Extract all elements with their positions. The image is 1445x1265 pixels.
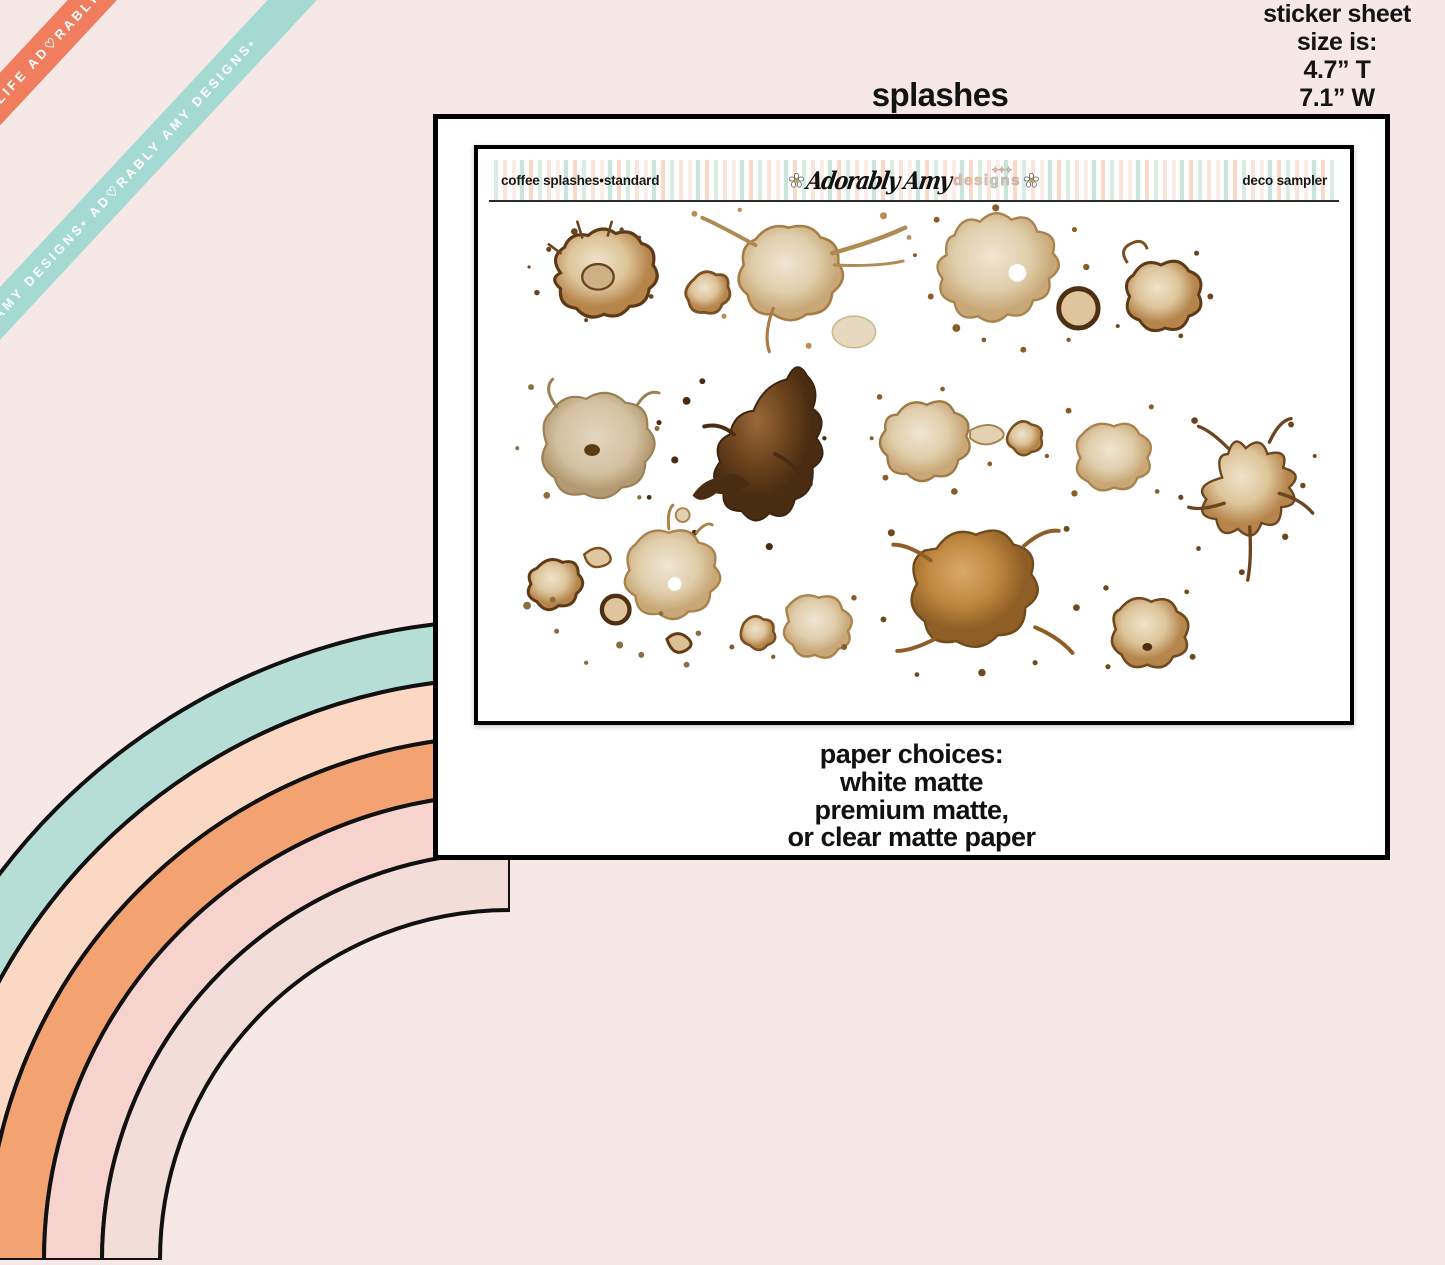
smiley-daisy-flower [0,1214,13,1260]
sheet-header-bar: coffee splashes•standard Adorably Amy [489,160,1339,202]
splash-pale-ellipse [832,316,875,348]
splash-small-round-mid [1007,421,1042,455]
splash-cup-ring-large [492,202,787,207]
splash-ring-left [527,222,657,322]
sheet-header-left-label: coffee splashes•standard [501,173,659,188]
product-card: coffee splashes•standard Adorably Amy [433,114,1390,860]
brand-designs-text: designs✧✦✧ [953,172,1021,189]
splash-round-spiky-mid [870,387,1004,495]
sticker-sheet: coffee splashes•standard Adorably Amy [489,160,1339,710]
splash-blob-small-a [686,272,730,314]
watermark-ribbon-mint: AD♡RABLY AMY DESIGNS• AD♡RABLY AMY DESIG… [0,0,449,415]
splash-donut-dark [1059,289,1098,328]
paper-choices-line-4: or clear matte paper [438,824,1385,852]
size-note-line-1: sticker sheet [1237,0,1437,28]
paper-choices-line-1: paper choices: [438,741,1385,769]
splash-olive-left [515,379,659,499]
size-note-line-2: size is: [1237,28,1437,56]
splash-round-right-row2 [1045,404,1160,496]
sparkle-icon: ✧✦✧ [992,165,1012,176]
flower-icon [789,173,804,188]
sticker-sheet-frame: coffee splashes•standard Adorably Amy [474,145,1354,725]
brand-script-text: Adorably Amy [805,166,953,195]
brand-logo: Adorably Amy designs✧✦✧ [789,168,1039,193]
sparkle-group [0,1190,225,1260]
splash-tan-far-right-row3 [1103,585,1195,669]
splash-blob-center-row3 [729,595,856,659]
splash-starburst-right [1178,417,1316,580]
product-title: splashes [760,76,1120,114]
sticker-sheet-size-note: sticker sheet size is: 4.7” T 7.1” W [1237,0,1437,112]
coffee-splash-artwork [489,202,1339,710]
sheet-header-right-label: deco sampler [1242,173,1327,188]
splash-dark-dramatic-center [647,367,827,550]
size-note-line-4: 7.1” W [1237,84,1437,112]
splash-cluster-left-row3 [523,505,720,667]
splash-amber-row3 [881,526,1080,677]
flower-icon [1024,173,1039,188]
paper-choices-line-3: premium matte, [438,797,1385,825]
splash-spiky-row1 [913,204,1089,352]
splash-tan-right-row1 [1116,241,1213,338]
size-note-line-3: 4.7” T [1237,56,1437,84]
paper-choices-note: paper choices: white matte premium matte… [438,741,1385,852]
paper-choices-line-2: white matte [438,769,1385,797]
